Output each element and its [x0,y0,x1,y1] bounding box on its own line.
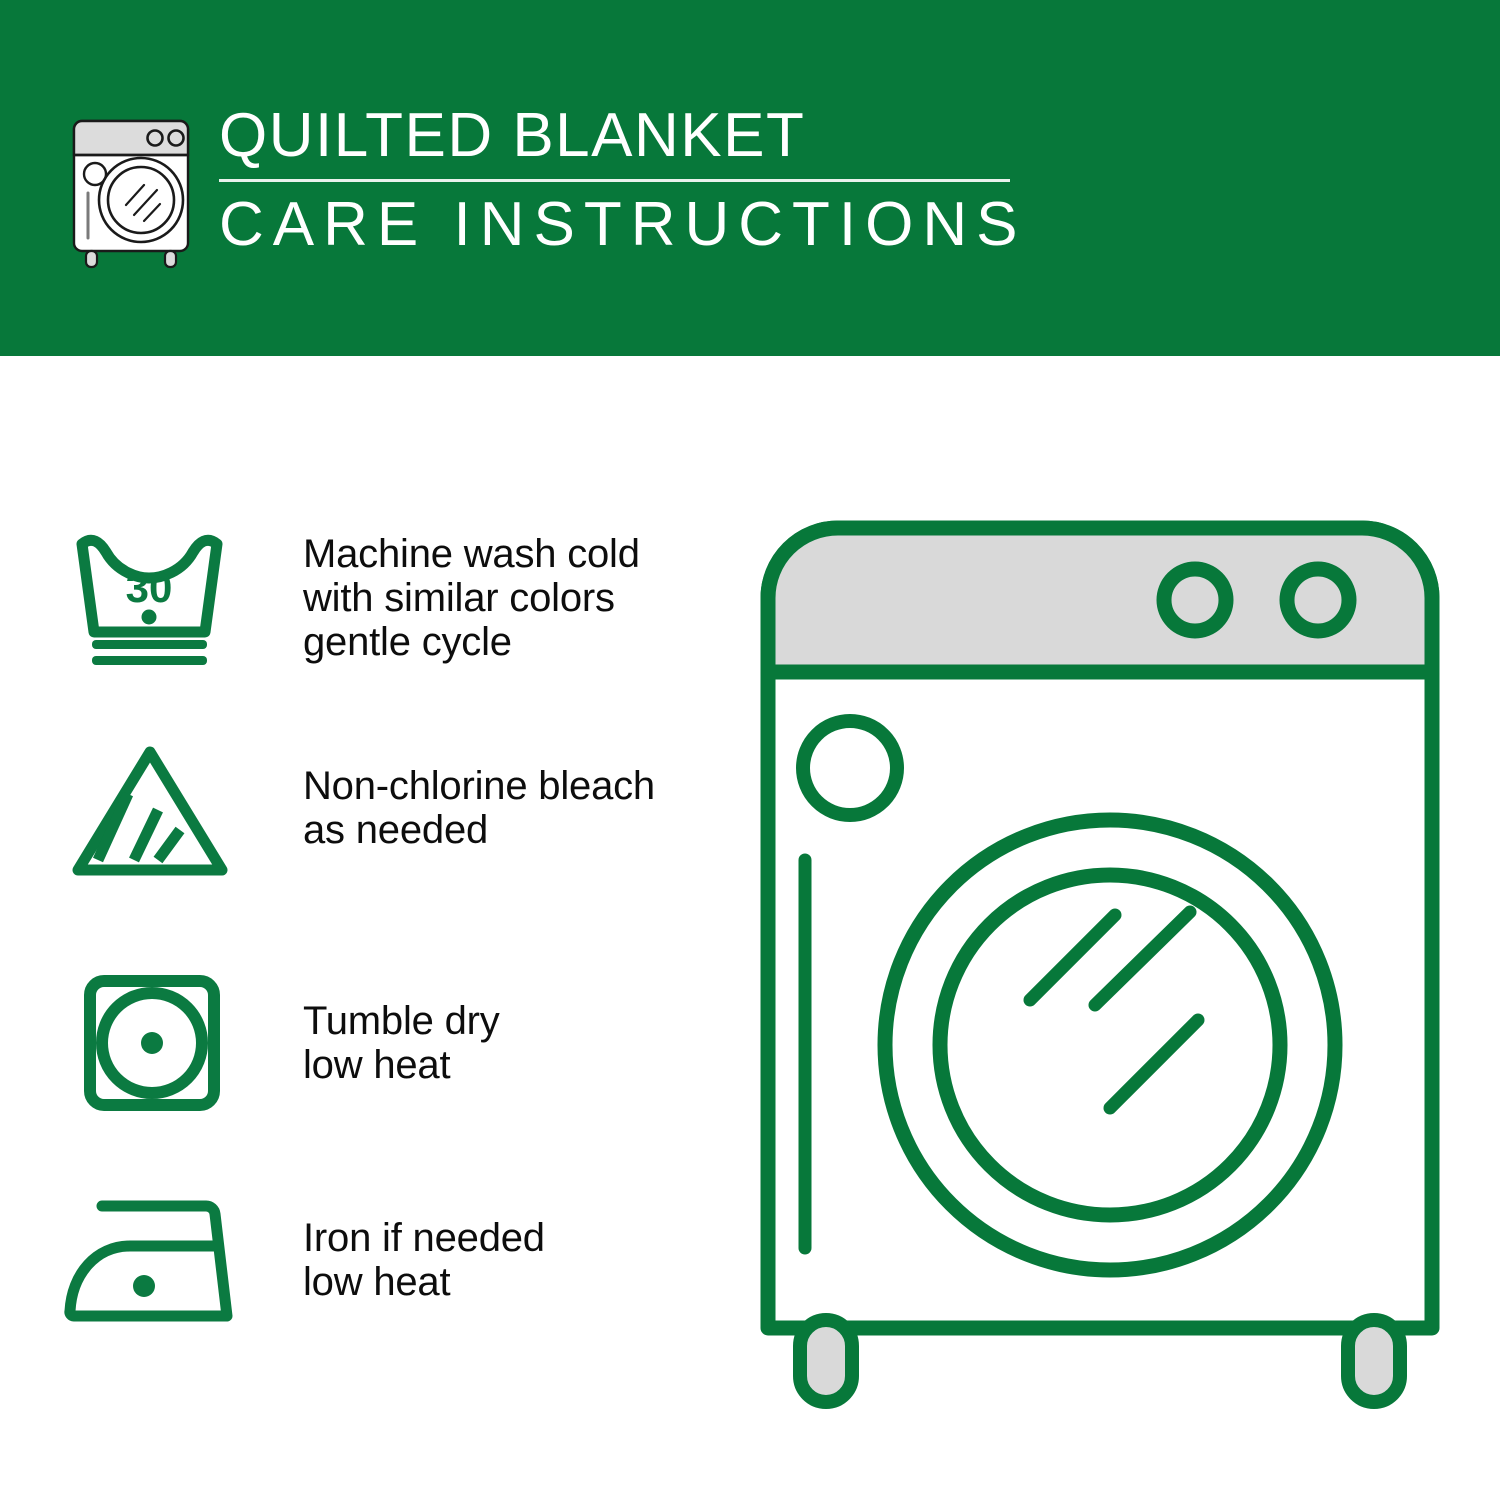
care-row-iron: Iron if needed low heat [62,1190,722,1330]
care-text-bleach: Non-chlorine bleach as needed [303,764,655,852]
care-line: with similar colors [303,576,640,620]
care-row-machine-wash: 30 Machine wash cold with similar colors… [62,518,722,678]
care-text-tumble-dry: Tumble dry low heat [303,999,500,1087]
care-line: Iron if needed [303,1216,545,1260]
title-divider [219,179,1010,182]
svg-text:30: 30 [126,564,173,611]
care-line: as needed [303,808,655,852]
header-title-block: QUILTED BLANKET CARE INSTRUCTIONS [219,100,1019,260]
care-line: Machine wash cold [303,532,640,576]
header-banner: QUILTED BLANKET CARE INSTRUCTIONS [0,0,1500,356]
care-line: gentle cycle [303,620,640,664]
care-line: Tumble dry [303,999,500,1043]
page-title: QUILTED BLANKET [219,100,1019,172]
tumble-dry-low-heat-symbol [62,973,237,1113]
care-instructions-page: QUILTED BLANKET CARE INSTRUCTIONS 30 Mac… [0,0,1500,1500]
care-row-bleach: Non-chlorine bleach as needed [62,728,722,888]
care-line: low heat [303,1043,500,1087]
iron-low-heat-symbol [62,1190,237,1330]
care-line: Non-chlorine bleach [303,764,655,808]
machine-wash-30-gentle-symbol: 30 [62,528,237,668]
front-load-washing-machine-illustration [740,500,1460,1430]
care-text-machine-wash: Machine wash cold with similar colors ge… [303,532,640,664]
care-row-tumble-dry: Tumble dry low heat [62,968,722,1118]
care-line: low heat [303,1260,545,1304]
page-subtitle: CARE INSTRUCTIONS [219,190,1019,260]
care-text-iron: Iron if needed low heat [303,1216,545,1304]
washing-machine-icon [62,105,200,270]
non-chlorine-bleach-symbol [62,738,237,878]
